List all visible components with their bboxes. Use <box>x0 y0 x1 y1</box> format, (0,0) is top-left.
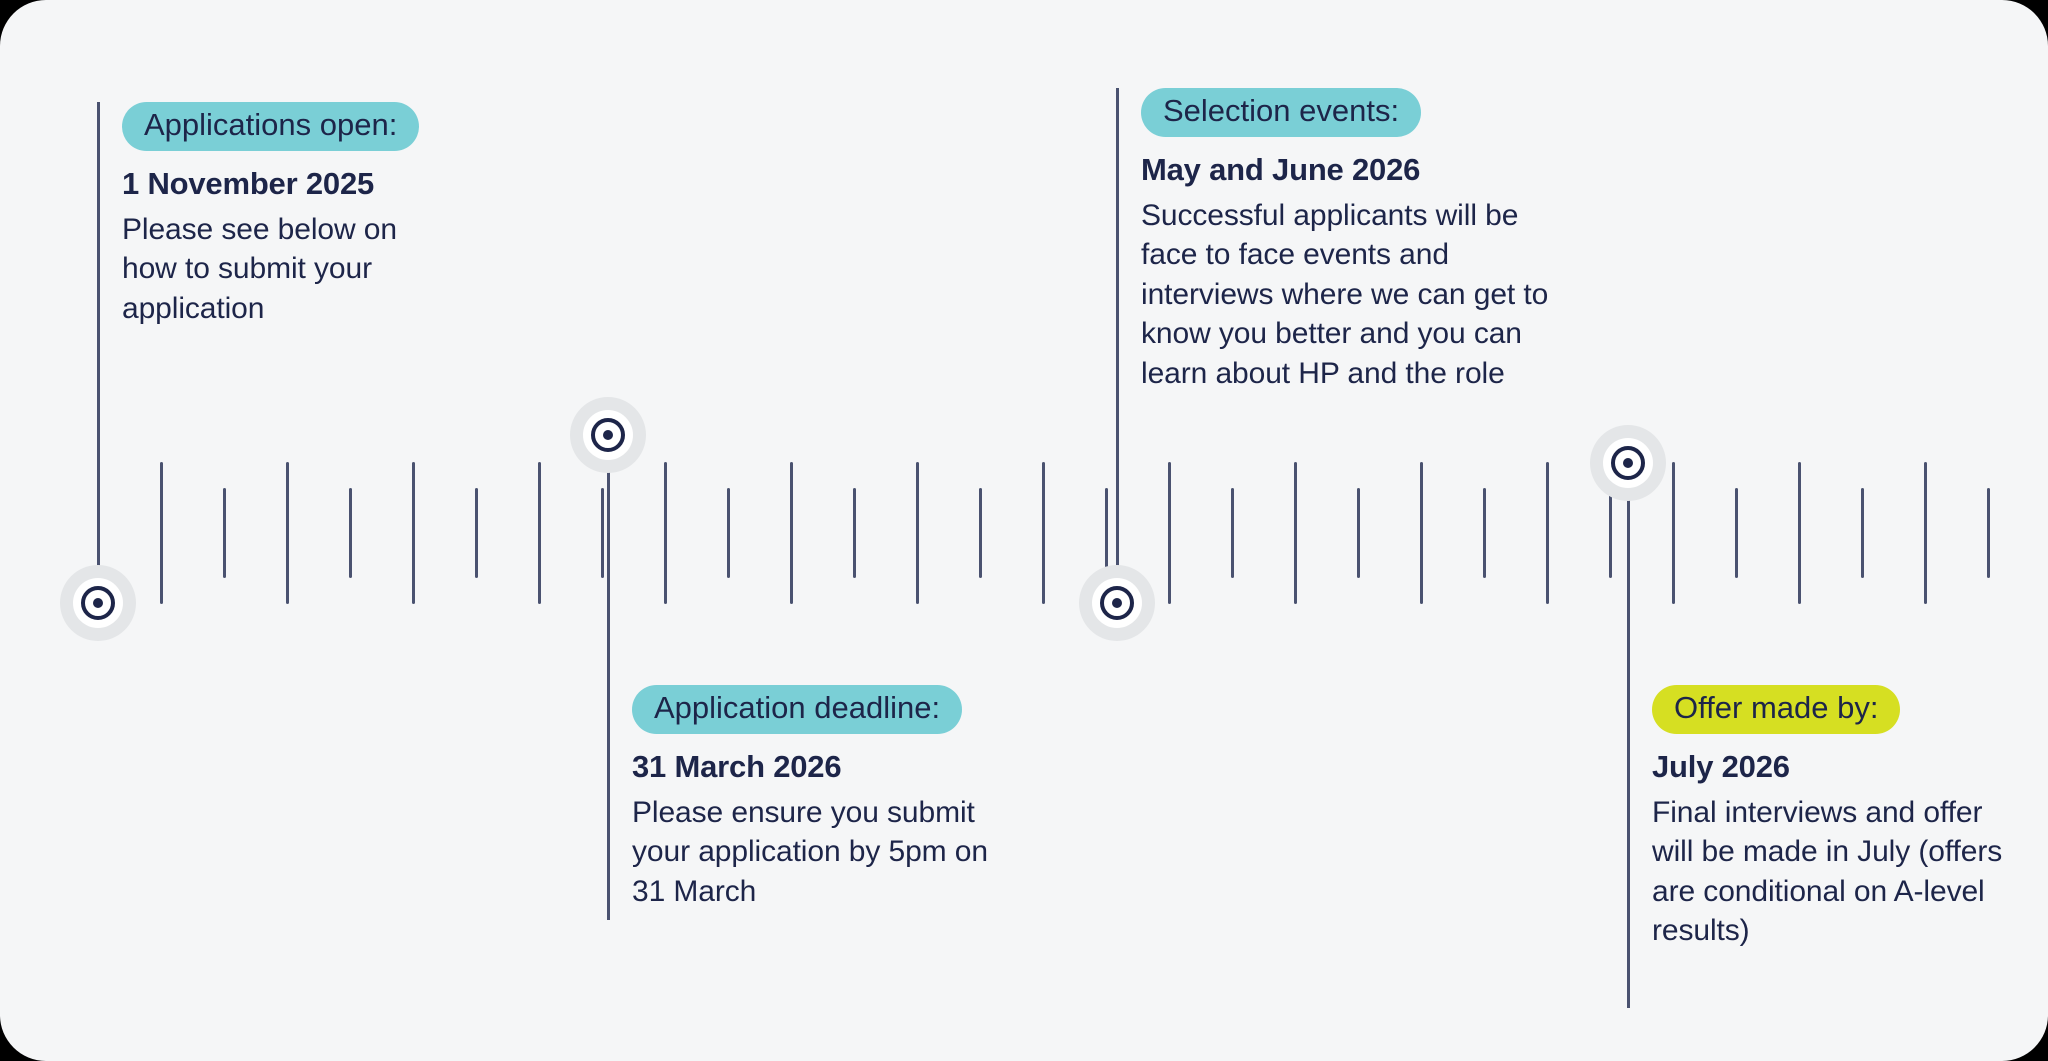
axis-tick-short <box>1483 488 1486 578</box>
milestone-label-row: Applications open: <box>122 102 452 151</box>
milestone-date: May and June 2026 <box>1141 153 1561 187</box>
axis-tick-long <box>790 462 793 604</box>
axis-tick-short <box>853 488 856 578</box>
milestone-label-pill: Applications open: <box>122 102 419 151</box>
axis-tick-long <box>1924 462 1927 604</box>
axis-tick-short <box>1609 488 1612 578</box>
axis-tick-short <box>1861 488 1864 578</box>
milestone-block-application-deadline: Application deadline:31 March 2026Please… <box>632 685 1002 911</box>
marker-inner-circle <box>73 578 123 628</box>
marker-ring-icon <box>1100 586 1134 620</box>
marker-ring-icon <box>81 586 115 620</box>
marker-inner-circle <box>1092 578 1142 628</box>
milestone-description: Final interviews and offer will be made … <box>1652 793 2012 951</box>
axis-tick-long <box>1042 462 1045 604</box>
milestone-block-selection-events: Selection events:May and June 2026Succes… <box>1141 88 1561 394</box>
marker-center-dot <box>93 598 103 608</box>
milestone-connector-line <box>97 102 100 605</box>
milestone-date: July 2026 <box>1652 750 2012 784</box>
milestone-description: Please ensure you submit your applicatio… <box>632 793 1002 912</box>
marker-center-dot <box>1623 458 1633 468</box>
axis-tick-short <box>727 488 730 578</box>
milestone-date: 1 November 2025 <box>122 167 452 201</box>
axis-tick-long <box>1168 462 1171 604</box>
axis-tick-short <box>601 488 604 578</box>
axis-tick-long <box>916 462 919 604</box>
axis-tick-long <box>286 462 289 604</box>
milestone-label-row: Offer made by: <box>1652 685 2012 734</box>
milestone-label-pill: Selection events: <box>1141 88 1421 137</box>
axis-tick-short <box>223 488 226 578</box>
marker-ring-icon <box>591 418 625 452</box>
axis-tick-long <box>1546 462 1549 604</box>
axis-tick-long <box>1294 462 1297 604</box>
axis-tick-short <box>1987 488 1990 578</box>
milestone-marker-applications-open[interactable] <box>60 565 136 641</box>
milestone-block-applications-open: Applications open:1 November 2025Please … <box>122 102 452 328</box>
axis-tick-long <box>1420 462 1423 604</box>
milestone-description: Please see below on how to submit your a… <box>122 210 452 329</box>
axis-tick-short <box>1231 488 1234 578</box>
milestone-label-row: Application deadline: <box>632 685 1002 734</box>
axis-tick-long <box>1672 462 1675 604</box>
milestone-label-row: Selection events: <box>1141 88 1561 137</box>
marker-center-dot <box>603 430 613 440</box>
milestone-label-pill: Offer made by: <box>1652 685 1900 734</box>
milestone-description: Successful applicants will be face to fa… <box>1141 196 1561 394</box>
marker-ring-icon <box>1611 446 1645 480</box>
axis-tick-long <box>664 462 667 604</box>
axis-tick-long <box>538 462 541 604</box>
milestone-date: 31 March 2026 <box>632 750 1002 784</box>
marker-inner-circle <box>1603 438 1653 488</box>
axis-tick-short <box>349 488 352 578</box>
milestone-connector-line <box>1627 498 1630 1008</box>
axis-tick-short <box>979 488 982 578</box>
milestone-block-offer-made-by: Offer made by:July 2026Final interviews … <box>1652 685 2012 951</box>
axis-tick-short <box>1735 488 1738 578</box>
axis-tick-short <box>1357 488 1360 578</box>
timeline-infographic: Applications open:1 November 2025Please … <box>0 0 2048 1061</box>
marker-center-dot <box>1112 598 1122 608</box>
milestone-marker-selection-events[interactable] <box>1079 565 1155 641</box>
milestone-marker-offer-made-by[interactable] <box>1590 425 1666 501</box>
milestone-marker-application-deadline[interactable] <box>570 397 646 473</box>
marker-inner-circle <box>583 410 633 460</box>
milestone-connector-line <box>607 470 610 920</box>
axis-tick-short <box>475 488 478 578</box>
milestone-connector-line <box>1116 88 1119 605</box>
axis-tick-long <box>1798 462 1801 604</box>
axis-tick-long <box>160 462 163 604</box>
milestone-label-pill: Application deadline: <box>632 685 962 734</box>
axis-tick-short <box>1105 488 1108 578</box>
axis-tick-long <box>412 462 415 604</box>
